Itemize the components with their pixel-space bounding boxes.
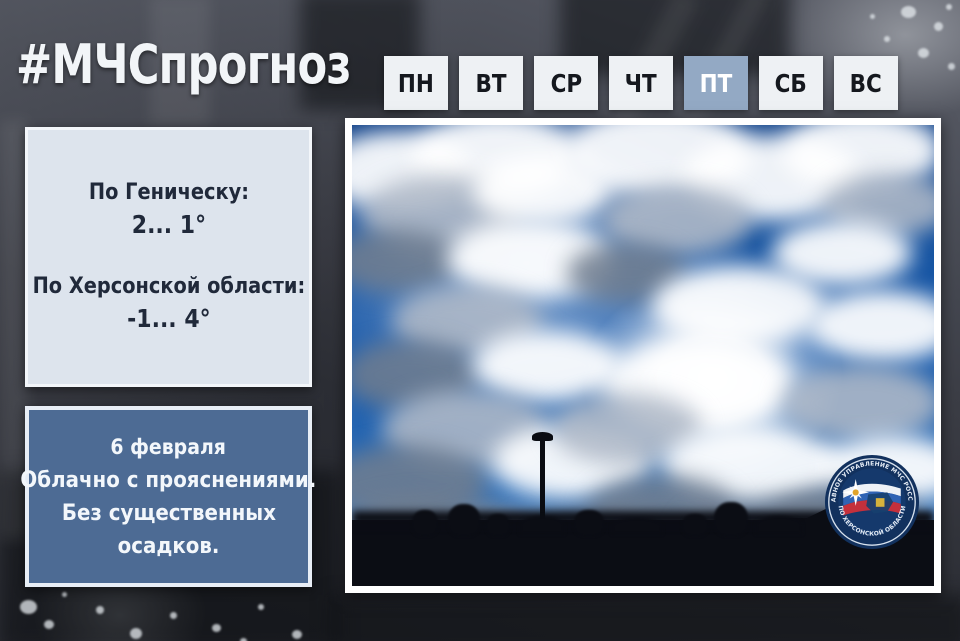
forecast-panel: 6 февраля Облачно с прояснениями. Без су… [25, 406, 312, 587]
weekday-button-sr[interactable]: СР [534, 56, 598, 110]
bush-silhouette [612, 518, 662, 534]
forecast-line: Без существенных [61, 497, 275, 530]
tree-silhouette [486, 514, 510, 536]
weekday-button-vs[interactable]: ВС [834, 56, 898, 110]
tree-silhouette [412, 510, 438, 536]
temperature-value: -1... 4° [32, 302, 305, 336]
weekday-button-pn[interactable]: ПН [384, 56, 448, 110]
forecast-line: осадков. [118, 530, 220, 563]
weekday-button-pt[interactable]: ПТ [684, 56, 748, 110]
weekday-label: ПН [398, 69, 434, 98]
weekday-label: ВТ [475, 69, 506, 98]
sky-photo: ГЛАВНОЕ УПРАВЛЕНИЕ МЧС РОССИИ ПО ХЕРСОНС… [352, 125, 934, 586]
forecast-line: Облачно с прояснениями. [21, 464, 317, 497]
bush-silhouette [520, 516, 564, 534]
photo-frame: ГЛАВНОЕ УПРАВЛЕНИЕ МЧС РОССИИ ПО ХЕРСОНС… [345, 118, 941, 593]
weekday-button-cht[interactable]: ЧТ [609, 56, 673, 110]
weekday-label: ЧТ [625, 69, 657, 98]
weekday-button-sb[interactable]: СБ [759, 56, 823, 110]
temperature-place-label: По Геническу: [88, 178, 248, 208]
lamp-head-icon [532, 432, 553, 441]
temperature-panel: По Геническу: 2... 1° По Херсонской обла… [25, 127, 312, 387]
weekday-selector[interactable]: ПН ВТ СР ЧТ ПТ СБ ВС [384, 56, 898, 110]
weekday-label: СБ [775, 69, 807, 98]
mchs-emblem-icon: ГЛАВНОЕ УПРАВЛЕНИЕ МЧС РОССИИ ПО ХЕРСОНС… [824, 454, 920, 550]
temperature-place-label: По Херсонской области: [32, 272, 305, 302]
temperature-block-kherson-oblast: По Херсонской области: -1... 4° [14, 272, 324, 336]
page-title: #МЧСпрогноз [16, 38, 351, 92]
bush-silhouette [756, 516, 802, 534]
temperature-value: 2... 1° [88, 208, 248, 242]
tree-silhouette [714, 502, 748, 536]
tree-silhouette [574, 510, 604, 536]
tree-silhouette [682, 514, 708, 536]
tree-silhouette [448, 504, 480, 536]
temperature-block-genichesk: По Геническу: 2... 1° [78, 178, 260, 242]
weekday-label: ПТ [700, 69, 733, 98]
weekday-label: СР [550, 69, 582, 98]
infographic-root: #МЧСпрогноз ПН ВТ СР ЧТ ПТ СБ ВС По Гени… [0, 0, 960, 641]
weekday-label: ВС [850, 69, 882, 98]
weekday-button-vt[interactable]: ВТ [459, 56, 523, 110]
forecast-date: 6 февраля [111, 431, 227, 464]
